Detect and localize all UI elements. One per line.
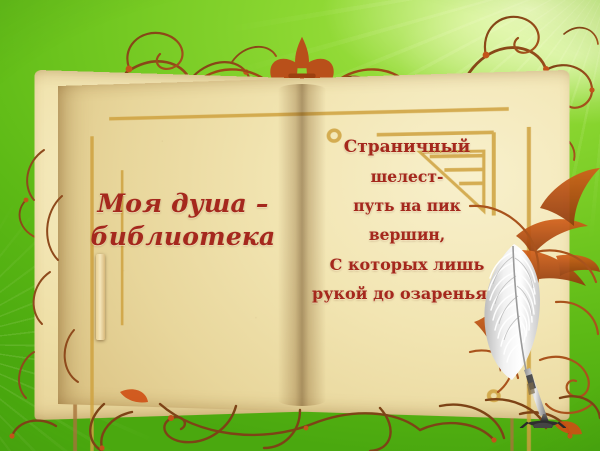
left-page-title: Моя душа – библиотека (78, 188, 288, 253)
poem-line-2: шелест- (312, 167, 502, 187)
quill-shaft (524, 368, 546, 416)
poem-line-1: Страничный (312, 136, 502, 158)
quill-nib (521, 414, 565, 428)
greeting-card-image: Моя душа – библиотека Страничный шелест-… (0, 0, 600, 451)
left-page-title-line-1: Моя душа – (97, 189, 268, 218)
feather-quill (470, 238, 566, 428)
poem-line-3: путь на пик (312, 196, 502, 216)
left-page-title-line-2: библиотека (78, 221, 288, 254)
quill-plume (484, 244, 540, 380)
